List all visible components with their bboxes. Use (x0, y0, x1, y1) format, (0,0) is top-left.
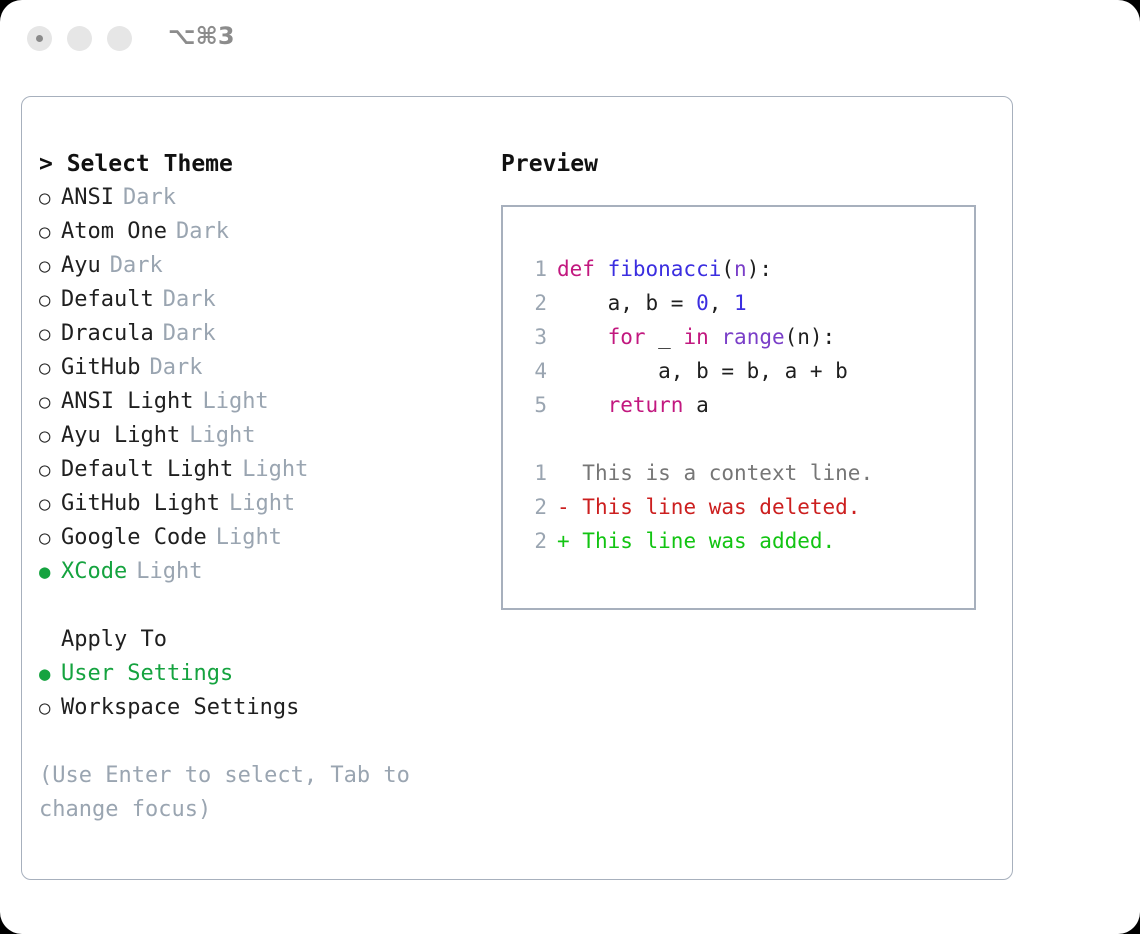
theme-option-dracula[interactable]: ○DraculaDark (39, 317, 479, 351)
keyboard-hint-text: (Use Enter to select, Tab to change focu… (39, 759, 439, 827)
diff-line-number: 2 (521, 490, 547, 524)
code-token-txt: a, b = (557, 286, 696, 320)
theme-option-label: Default Light (61, 453, 233, 487)
code-line: 5 return a (503, 388, 974, 422)
theme-variant-tag: Light (136, 555, 202, 589)
code-token-fn: fibonacci (608, 252, 722, 286)
code-line-number: 2 (521, 286, 547, 320)
code-token-txt (709, 320, 722, 354)
diff-text: This line was added. (582, 524, 835, 558)
theme-option-label: ANSI (61, 181, 114, 215)
code-line-number: 5 (521, 388, 547, 422)
apply-to-heading: Apply To (39, 623, 479, 657)
theme-option-ansi-light[interactable]: ○ANSI LightLight (39, 385, 479, 419)
code-token-bi: range (721, 320, 784, 354)
diff-sample: 1 This is a context line.2- This line wa… (503, 456, 974, 558)
theme-variant-tag: Light (189, 419, 255, 453)
theme-option-label: Dracula (61, 317, 154, 351)
preview-column: Preview 1def fibonacci(n):2 a, b = 0, 13… (501, 147, 991, 610)
diff-sign: + (557, 524, 582, 558)
theme-option-label: Ayu Light (61, 419, 180, 453)
code-line: 3 for _ in range(n): (503, 320, 974, 354)
traffic-light-second-icon[interactable] (67, 26, 92, 51)
radio-unselected-icon: ○ (39, 521, 61, 555)
select-theme-heading: > Select Theme (39, 147, 479, 181)
diff-line-del: 2- This line was deleted. (503, 490, 974, 524)
radio-unselected-icon: ○ (39, 691, 61, 725)
code-line-number: 4 (521, 354, 547, 388)
preview-heading: Preview (501, 147, 991, 181)
radio-unselected-icon: ○ (39, 419, 61, 453)
code-token-txt: a (683, 388, 708, 422)
app-window: ⌥⌘3 > Select Theme ○ANSIDark○Atom OneDar… (0, 0, 1140, 934)
theme-variant-tag: Light (202, 385, 268, 419)
diff-sign (557, 456, 582, 490)
preview-box: 1def fibonacci(n):2 a, b = 0, 13 for _ i… (501, 205, 976, 610)
theme-option-label: ANSI Light (61, 385, 193, 419)
diff-line-number: 2 (521, 524, 547, 558)
theme-option-label: Google Code (61, 521, 207, 555)
theme-variant-tag: Light (229, 487, 295, 521)
theme-variant-tag: Dark (163, 317, 216, 351)
radio-selected-icon: ● (39, 555, 61, 589)
radio-unselected-icon: ○ (39, 215, 61, 249)
diff-line-add: 2+ This line was added. (503, 524, 974, 558)
theme-variant-tag: Dark (149, 351, 202, 385)
code-token-txt: (n): (785, 320, 836, 354)
theme-variant-tag: Dark (176, 215, 229, 249)
radio-unselected-icon: ○ (39, 351, 61, 385)
radio-unselected-icon: ○ (39, 487, 61, 521)
code-token-kw: in (683, 320, 708, 354)
code-token-txt: a, b = b, a + b (557, 354, 848, 388)
code-token-kw: for (608, 320, 646, 354)
apply-to-option-label: User Settings (61, 657, 233, 691)
theme-option-label: XCode (61, 555, 127, 589)
apply-to-option-user-settings[interactable]: ●User Settings (39, 657, 479, 691)
theme-option-google-code[interactable]: ○Google CodeLight (39, 521, 479, 555)
code-token-kw: return (608, 388, 684, 422)
title-bar: ⌥⌘3 (0, 0, 1140, 78)
code-line-number: 1 (521, 252, 547, 286)
code-token-txt: ( (721, 252, 734, 286)
code-token-txt: , (709, 286, 734, 320)
theme-variant-tag: Dark (123, 181, 176, 215)
theme-option-label: Atom One (61, 215, 167, 249)
code-line: 4 a, b = b, a + b (503, 354, 974, 388)
code-token-var: n (734, 252, 747, 286)
radio-unselected-icon: ○ (39, 385, 61, 419)
theme-variant-tag: Dark (110, 249, 163, 283)
code-token-kw: def (557, 252, 608, 286)
code-token-txt (557, 388, 608, 422)
apply-to-option-label: Workspace Settings (61, 691, 299, 725)
diff-line-ctx: 1 This is a context line. (503, 456, 974, 490)
radio-unselected-icon: ○ (39, 249, 61, 283)
code-line-number: 3 (521, 320, 547, 354)
traffic-light-third-icon[interactable] (107, 26, 132, 51)
theme-picker-panel: > Select Theme ○ANSIDark○Atom OneDark○Ay… (21, 96, 1013, 880)
code-diff-separator (503, 422, 974, 456)
radio-selected-icon: ● (39, 657, 61, 691)
theme-option-github[interactable]: ○GitHubDark (39, 351, 479, 385)
radio-unselected-icon: ○ (39, 283, 61, 317)
radio-unselected-icon: ○ (39, 181, 61, 215)
theme-list: ○ANSIDark○Atom OneDark○AyuDark○DefaultDa… (39, 181, 479, 589)
theme-variant-tag: Light (242, 453, 308, 487)
theme-option-xcode[interactable]: ●XCodeLight (39, 555, 479, 589)
theme-selection-column: > Select Theme ○ANSIDark○Atom OneDark○Ay… (39, 147, 479, 827)
theme-option-label: Ayu (61, 249, 101, 283)
apply-to-option-workspace-settings[interactable]: ○Workspace Settings (39, 691, 479, 725)
list-spacer (39, 589, 479, 623)
theme-option-ayu[interactable]: ○AyuDark (39, 249, 479, 283)
theme-variant-tag: Light (216, 521, 282, 555)
theme-option-label: Default (61, 283, 154, 317)
code-line: 2 a, b = 0, 1 (503, 286, 974, 320)
code-token-txt: ): (747, 252, 772, 286)
theme-option-default[interactable]: ○DefaultDark (39, 283, 479, 317)
theme-option-ansi[interactable]: ○ANSIDark (39, 181, 479, 215)
radio-unselected-icon: ○ (39, 317, 61, 351)
radio-unselected-icon: ○ (39, 453, 61, 487)
theme-option-label: GitHub (61, 351, 140, 385)
apply-to-list: ●User Settings○Workspace Settings (39, 657, 479, 725)
code-line: 1def fibonacci(n): (503, 252, 974, 286)
diff-text: This line was deleted. (582, 490, 860, 524)
code-token-txt: _ (646, 320, 684, 354)
diff-text: This is a context line. (582, 456, 873, 490)
code-token-num: 0 (696, 286, 709, 320)
diff-sign: - (557, 490, 582, 524)
code-token-num: 1 (734, 286, 747, 320)
code-token-txt (557, 320, 608, 354)
theme-option-default-light[interactable]: ○Default LightLight (39, 453, 479, 487)
theme-option-atom-one[interactable]: ○Atom OneDark (39, 215, 479, 249)
theme-option-ayu-light[interactable]: ○Ayu LightLight (39, 419, 479, 453)
diff-line-number: 1 (521, 456, 547, 490)
theme-variant-tag: Dark (163, 283, 216, 317)
traffic-light-record-icon[interactable] (27, 26, 52, 51)
code-sample: 1def fibonacci(n):2 a, b = 0, 13 for _ i… (503, 252, 974, 422)
theme-option-label: GitHub Light (61, 487, 220, 521)
keyboard-shortcut-label: ⌥⌘3 (168, 22, 235, 50)
theme-option-github-light[interactable]: ○GitHub LightLight (39, 487, 479, 521)
